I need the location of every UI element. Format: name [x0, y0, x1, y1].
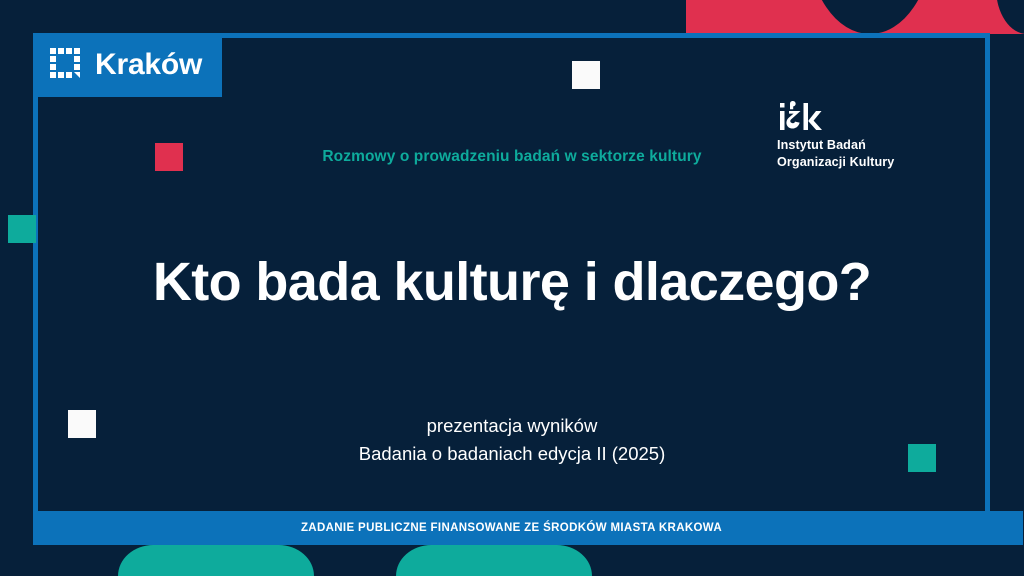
slide-eyebrow-text: Rozmowy o prowadzeniu badań w sektorze k…: [0, 148, 1024, 166]
top-red-arch-band: [686, 0, 1024, 34]
top-arch-notch-right: [996, 0, 1024, 34]
ibk-monogram-icon: [779, 100, 823, 134]
bottom-teal-arch-right: [396, 545, 592, 576]
funding-banner: ZADANIE PUBLICZNE FINANSOWANE ZE ŚRODKÓW…: [33, 511, 1023, 545]
funding-banner-text: ZADANIE PUBLICZNE FINANSOWANE ZE ŚRODKÓW…: [33, 511, 990, 545]
bottom-teal-arch-left: [118, 545, 314, 576]
krakow-logo: Kraków: [33, 33, 222, 97]
decorative-square-white-top: [572, 61, 600, 89]
subtitle-line-1: prezentacja wyników: [0, 412, 1024, 440]
slide-title: Kto bada kulturę i dlaczego?: [0, 252, 1024, 312]
krakow-wordmark: Kraków: [95, 50, 202, 80]
slide-subtitle: prezentacja wyników Badania o badaniach …: [0, 412, 1024, 468]
decorative-square-teal-left: [8, 215, 36, 243]
krakow-grid-icon: [50, 48, 84, 82]
subtitle-line-2: Badania o badaniach edycja II (2025): [0, 440, 1024, 468]
presentation-slide: Kraków Instytut Badań Organizacji Kultur…: [0, 0, 1024, 576]
top-arch-notch-center: [808, 0, 932, 34]
